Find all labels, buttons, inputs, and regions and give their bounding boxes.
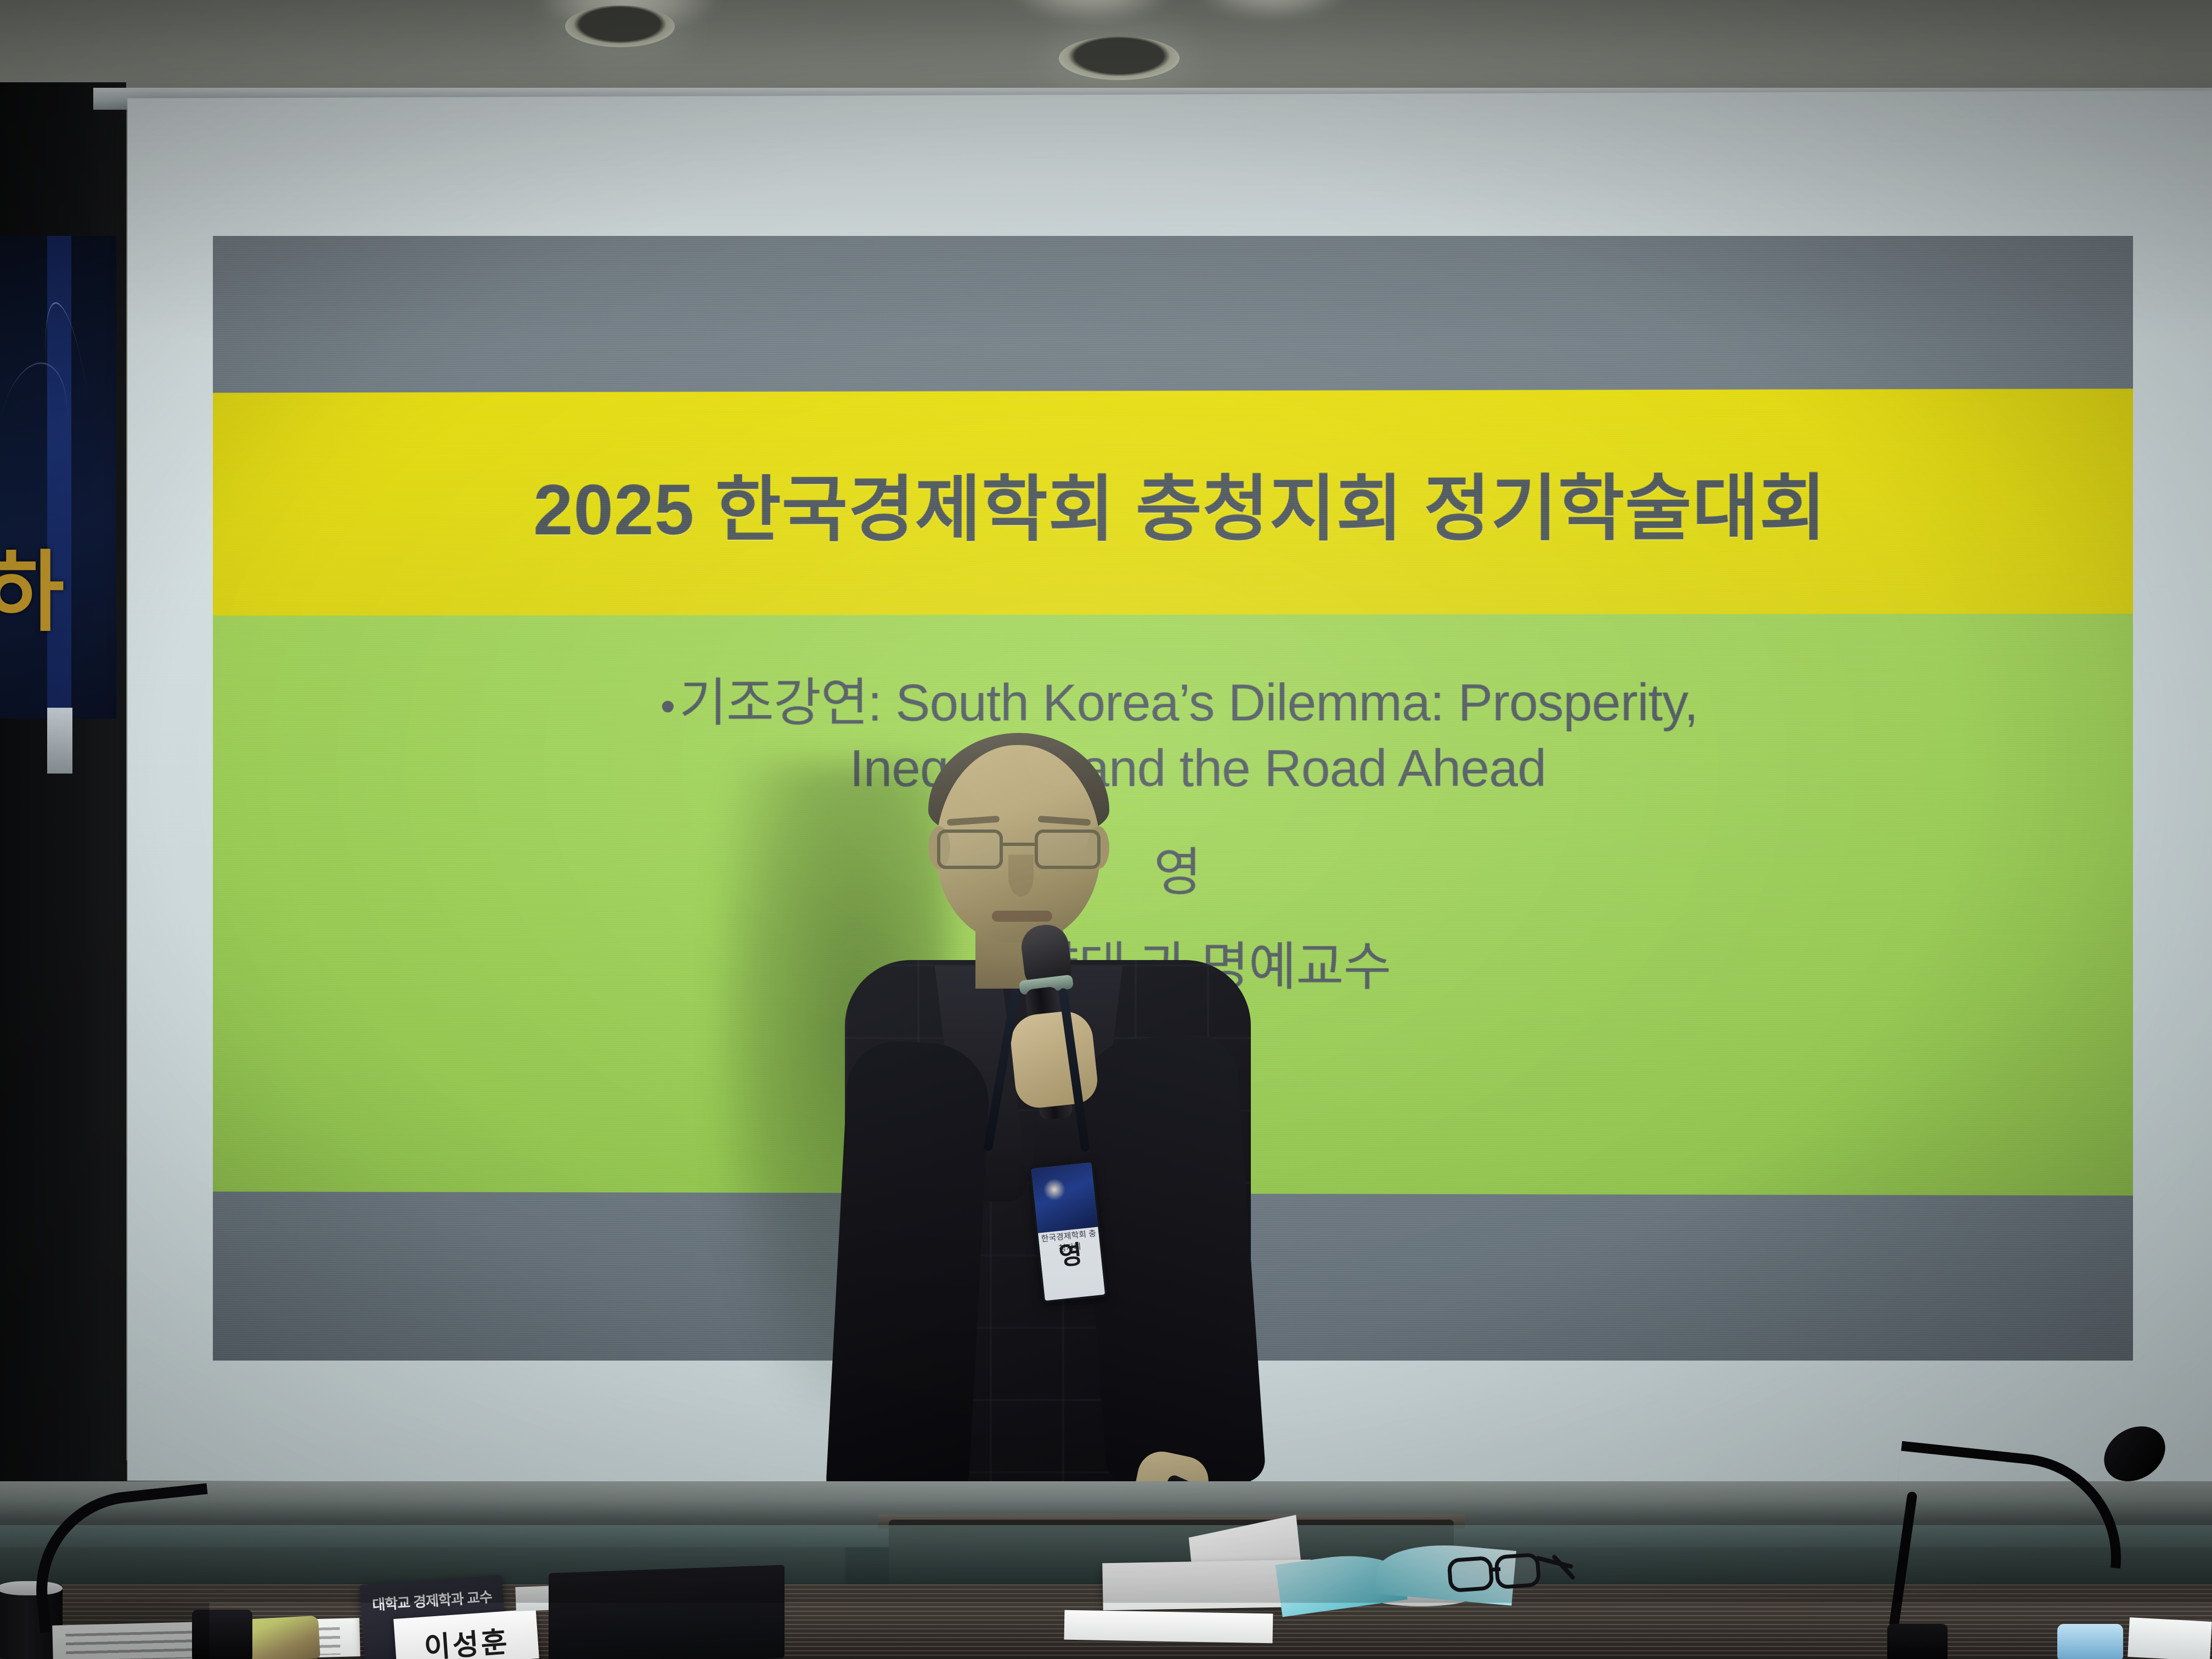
gooseneck-microphone-left — [33, 1492, 252, 1659]
slide-title: 2025 한국경제학회 충청지회 정기학술대회 — [213, 388, 2133, 616]
presenter-mouth — [992, 911, 1052, 922]
bullet-dot-icon: • — [660, 684, 674, 727]
desk-eyeglass-lens-left — [1447, 1556, 1494, 1593]
nameplate-name: 이성훈 — [394, 1617, 539, 1659]
badge-name-text: 영 — [1039, 1232, 1102, 1274]
presenter-hand-holding-mic — [1008, 1009, 1100, 1110]
downlight-1 — [565, 5, 675, 47]
mic-left-gooseneck — [26, 1483, 220, 1633]
side-banner: 하 일人 — [0, 236, 116, 719]
eyeglass-lens-right — [1035, 830, 1101, 869]
eyeglass-bridge — [1003, 843, 1035, 846]
badge-header-graphic — [1031, 1163, 1098, 1233]
gooseneck-microphone-right — [1865, 1425, 2205, 1659]
presenter-arm-right — [1076, 1032, 1266, 1492]
downlight-2 — [1059, 36, 1180, 80]
room-scene: 하 일人 2025 한국경제학회 충청지회 정기학술대회 • 기조강연: Sou… — [0, 0, 2212, 1659]
desk-eyeglass-lens-right — [1494, 1553, 1541, 1590]
laptop-device — [549, 1565, 785, 1659]
desk-eyeglass-bridge — [1492, 1567, 1500, 1572]
slide-bullet-1: • 기조강연: South Korea’s Dilemma: Prosperit… — [284, 672, 2080, 734]
nameplate-organization: 대학교 경제학과 교수 — [360, 1585, 504, 1615]
presenter-arm-left — [825, 1039, 992, 1506]
presenter-nose — [1008, 855, 1034, 896]
mic-right-base — [1887, 1624, 1948, 1659]
eyeglasses-on-desk — [1447, 1549, 1565, 1606]
badge-sparkle-icon — [1042, 1177, 1066, 1201]
slide-band-top — [213, 236, 2133, 393]
mic-right-capsule-icon — [2094, 1415, 2176, 1493]
slide-bullet-1-text: 기조강연: South Korea’s Dilemma: Prosperity, — [679, 672, 1698, 733]
banner-main-text: 하 — [0, 521, 61, 648]
loose-papers — [1064, 1610, 1273, 1644]
eyeglass-lens-left — [937, 830, 1003, 869]
mic-left-base — [192, 1610, 252, 1659]
mic-right-gooseneck — [1891, 1441, 2131, 1569]
banner-bottom-trim — [47, 708, 72, 774]
